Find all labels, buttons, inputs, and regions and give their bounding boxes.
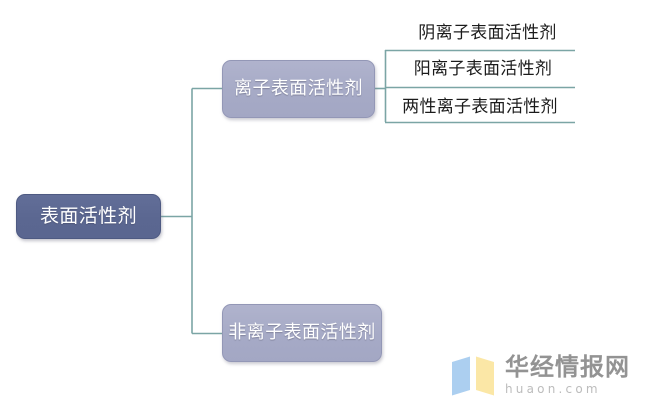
diagram-canvas: 表面活性剂 离子表面活性剂 非离子表面活性剂 阴离子表面活性剂 阳离子表面活性剂… [0,0,645,413]
leaf-amphoteric-label: 两性离子表面活性剂 [402,92,558,117]
leaf-amphoteric-surfactant[interactable]: 两性离子表面活性剂 [385,92,575,120]
leaf-anionic-surfactant[interactable]: 阴离子表面活性剂 [400,18,575,46]
node-nonionic-label: 非离子表面活性剂 [228,322,375,344]
leaf-cationic-surfactant[interactable]: 阳离子表面活性剂 [392,54,574,82]
huaon-book-icon [450,356,496,396]
node-root-label: 表面活性剂 [40,205,137,228]
node-ionic-label: 离子表面活性剂 [234,78,363,100]
watermark-title: 华经情报网 [505,355,630,380]
node-nonionic-surfactant[interactable]: 非离子表面活性剂 [222,304,382,362]
leaf-anionic-label: 阴离子表面活性剂 [418,18,556,43]
node-root-surfactant[interactable]: 表面活性剂 [16,194,161,239]
node-ionic-surfactant[interactable]: 离子表面活性剂 [222,60,375,118]
watermark-domain: huaon.com [505,382,630,397]
watermark-text: 华经情报网 huaon.com [505,355,630,397]
watermark: 华经情报网 huaon.com [450,347,638,405]
leaf-cationic-label: 阳离子表面活性剂 [414,54,552,79]
